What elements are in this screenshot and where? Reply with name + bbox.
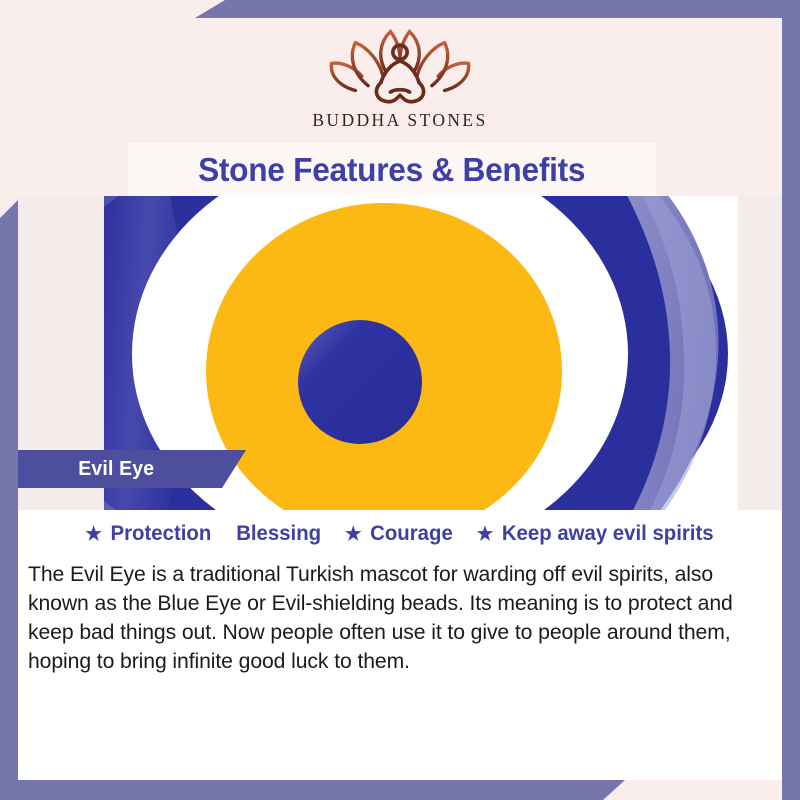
- title-banner: Stone Features & Benefits: [128, 143, 656, 196]
- stone-name-label: Evil Eye: [20, 458, 154, 481]
- description-text: The Evil Eye is a traditional Turkish ma…: [28, 560, 761, 676]
- brand-name: BUDDHA STONES: [0, 110, 800, 131]
- feature-blessing: Blessing: [234, 522, 323, 545]
- feature-protection: Protection: [109, 522, 214, 545]
- frame-bar-bottom-right: [782, 760, 800, 800]
- feature-courage: Courage: [368, 522, 455, 545]
- frame-bar-top: [195, 0, 800, 18]
- star-icon-3: ★: [476, 524, 494, 545]
- star-icon-2: ★: [344, 524, 362, 545]
- frame-bar-left: [0, 200, 18, 800]
- feature-list: ★ Protection Blessing ★ Courage ★ Keep a…: [29, 522, 770, 546]
- star-icon: ★: [84, 524, 102, 545]
- brand-logo: BUDDHA STONES: [0, 22, 800, 131]
- poster-canvas: BUDDHA STONES Stone Features & Benefits: [0, 0, 800, 800]
- hero-right-backdrop: [738, 196, 782, 510]
- stone-name-ribbon: Evil Eye: [18, 450, 246, 488]
- frame-bar-right: [782, 0, 800, 760]
- frame-bar-bottom: [0, 780, 625, 800]
- description-card: ★ Protection Blessing ★ Courage ★ Keep a…: [18, 510, 782, 780]
- feature-keep-away-evil-spirits: Keep away evil spirits: [500, 522, 716, 545]
- lotus-meditation-icon: [320, 22, 480, 108]
- page-title: Stone Features & Benefits: [198, 151, 585, 189]
